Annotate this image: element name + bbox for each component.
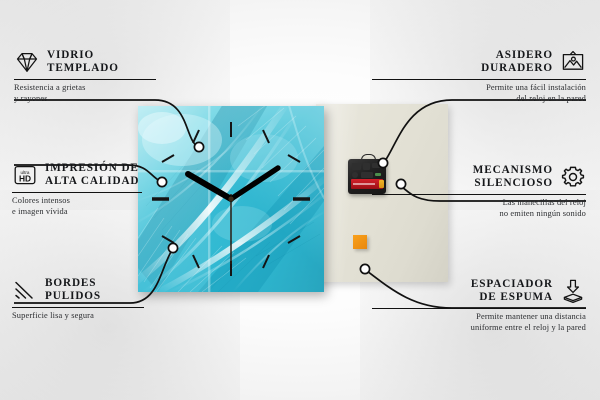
ultra-hd-badge-icon: ultra HD xyxy=(12,162,38,188)
feature-title-line1: BORDES xyxy=(45,277,101,290)
feature-vidrio-templado: VIDRIO TEMPLADO Resistencia a grietas y … xyxy=(14,49,228,105)
diagonal-lines-icon xyxy=(12,277,38,303)
feature-desc-line2: no emiten ningún sonido xyxy=(372,209,586,220)
feature-desc-line2: e imagen vívida xyxy=(12,207,226,218)
feature-heading-row: BORDES PULIDOS xyxy=(12,277,226,304)
feature-heading-row: VIDRIO TEMPLADO xyxy=(14,49,228,76)
diamond-icon xyxy=(14,49,40,75)
feature-heading-row: ultra HD IMPRESIÓN DE ALTA CALIDAD xyxy=(12,162,226,189)
feature-desc-line1: Superficie lisa y segura xyxy=(12,311,226,322)
feature-title-line2: SILENCIOSO xyxy=(473,177,553,190)
feature-title-line1: IMPRESIÓN DE xyxy=(45,162,139,175)
feature-desc-line1: Colores intensos xyxy=(12,196,226,207)
feature-heading-row: ASIDERO DURADERO xyxy=(372,49,586,76)
feature-title-line2: DURADERO xyxy=(481,62,553,75)
gear-icon xyxy=(560,164,586,190)
feature-impresion-alta-calidad: ultra HD IMPRESIÓN DE ALTA CALIDAD Color… xyxy=(12,162,226,218)
feature-title-line1: ASIDERO xyxy=(481,49,553,62)
feature-divider xyxy=(372,79,586,81)
ultra-hd-large-text: HD xyxy=(19,174,31,184)
infographic-canvas: VIDRIO TEMPLADO Resistencia a grietas y … xyxy=(0,0,600,400)
feature-title-line1: ESPACIADOR xyxy=(471,278,553,291)
feature-desc-line1: Las manecillas del reloj xyxy=(372,198,586,209)
feature-desc-line2: y rayones xyxy=(14,94,228,105)
feature-espaciador-de-espuma: ESPACIADOR DE ESPUMA Permite mantener un… xyxy=(372,278,586,334)
feature-asidero-duradero: ASIDERO DURADERO Permite una fácil insta… xyxy=(372,49,586,105)
foam-spacer xyxy=(353,235,367,249)
feature-divider xyxy=(12,192,142,194)
feature-title-line1: MECANISMO xyxy=(473,164,553,177)
arrow-onto-layers-icon xyxy=(560,278,586,304)
feature-title-line2: DE ESPUMA xyxy=(471,291,553,304)
framed-picture-icon xyxy=(560,49,586,75)
feature-desc-line1: Resistencia a grietas xyxy=(14,83,228,94)
feature-desc-line2: del reloj en la pared xyxy=(372,94,586,105)
feature-divider xyxy=(372,308,586,310)
feature-title-line2: PULIDOS xyxy=(45,290,101,303)
feature-title-line1: VIDRIO xyxy=(47,49,119,62)
feature-title-line2: TEMPLADO xyxy=(47,62,119,75)
feature-title-line2: ALTA CALIDAD xyxy=(45,175,139,188)
feature-divider xyxy=(12,307,144,309)
feature-desc-line1: Permite una fácil instalación xyxy=(372,83,586,94)
feature-divider xyxy=(14,79,156,81)
feature-heading-row: MECANISMO SILENCIOSO xyxy=(372,164,586,191)
feature-desc-line2: uniforme entre el reloj y la pared xyxy=(372,323,586,334)
feature-divider xyxy=(372,194,586,196)
feature-bordes-pulidos: BORDES PULIDOS Superficie lisa y segura xyxy=(12,277,226,322)
feature-desc-line1: Permite mantener una distancia xyxy=(372,312,586,323)
feature-heading-row: ESPACIADOR DE ESPUMA xyxy=(372,278,586,305)
feature-mecanismo-silencioso: MECANISMO SILENCIOSO Las manecillas del … xyxy=(372,164,586,220)
